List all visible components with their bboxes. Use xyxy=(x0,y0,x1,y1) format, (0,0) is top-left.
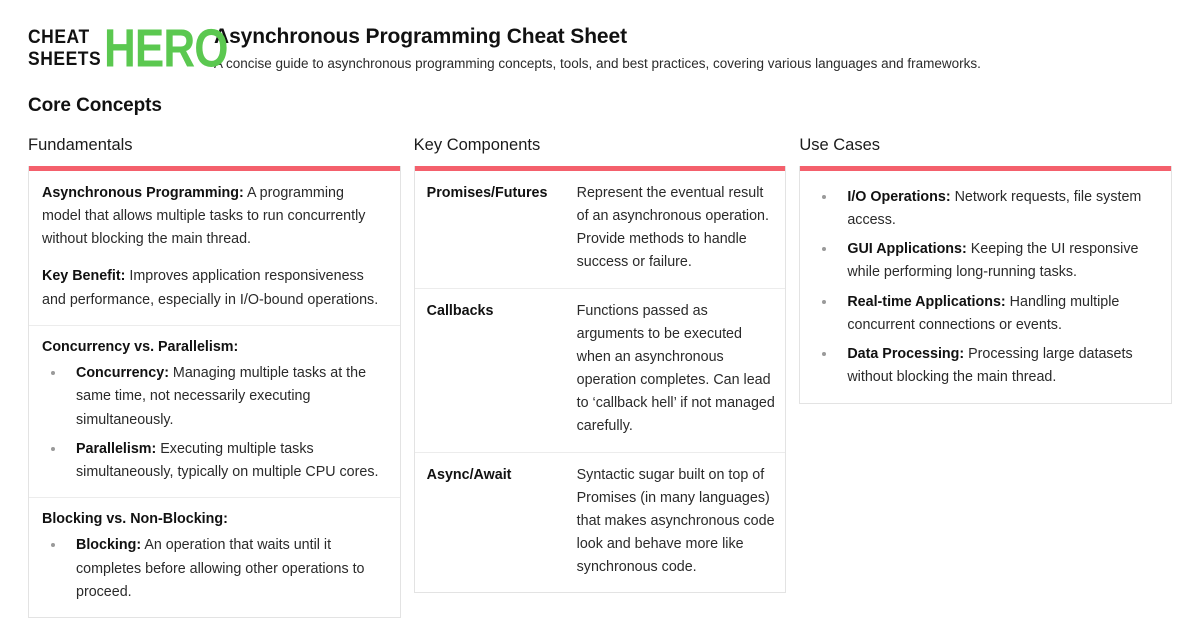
list-item-lead: I/O Operations: xyxy=(847,189,950,205)
list-item: Data Processing: Processing large datase… xyxy=(813,343,1158,389)
card-use-cases: I/O Operations: Network requests, file s… xyxy=(799,166,1172,404)
list-item: Blocking: An operation that waits until … xyxy=(42,534,387,603)
table-cell-term: Promises/Futures xyxy=(415,171,567,288)
brand-line-2: SHEETS xyxy=(28,50,101,69)
column-key-components: Key Components Promises/Futures Represen… xyxy=(414,136,787,593)
brand-logo[interactable]: CHEAT SHEETS HERO xyxy=(28,26,196,74)
block-heading: Concurrency vs. Parallelism: xyxy=(42,337,387,358)
page-header: CHEAT SHEETS HERO Asynchronous Programmi… xyxy=(28,0,1172,74)
brand-logo-text: CHEAT SHEETS xyxy=(28,28,108,69)
bullet-list: Blocking: An operation that waits until … xyxy=(42,534,387,603)
brand-accent-word: HERO xyxy=(104,21,228,75)
table-cell-description: Syntactic sugar built on top of Promises… xyxy=(567,452,786,592)
card-key-components: Promises/Futures Represent the eventual … xyxy=(414,166,787,593)
list-item-lead: Real-time Applications: xyxy=(847,294,1005,310)
paragraph: Key Benefit: Improves application respon… xyxy=(42,265,387,311)
list-item: Real-time Applications: Handling multipl… xyxy=(813,291,1158,337)
table-row: Callbacks Functions passed as arguments … xyxy=(415,288,786,452)
cheatsheet-page: CHEAT SHEETS HERO Asynchronous Programmi… xyxy=(0,0,1200,630)
block-definitions: Asynchronous Programming: A programming … xyxy=(29,171,400,326)
bullet-list: Concurrency: Managing multiple tasks at … xyxy=(42,362,387,484)
list-item-lead: Data Processing: xyxy=(847,346,964,362)
table-row: Async/Await Syntactic sugar built on top… xyxy=(415,452,786,592)
list-item-lead: GUI Applications: xyxy=(847,241,966,257)
table-cell-term: Async/Await xyxy=(415,452,567,592)
table-cell-description: Functions passed as arguments to be exec… xyxy=(567,288,786,452)
block-heading: Blocking vs. Non-Blocking: xyxy=(42,509,387,530)
header-text-group: Asynchronous Programming Cheat Sheet A c… xyxy=(214,22,981,73)
block-concurrency-parallelism: Concurrency vs. Parallelism: Concurrency… xyxy=(29,326,400,498)
list-item: GUI Applications: Keeping the UI respons… xyxy=(813,238,1158,284)
table-cell-description: Represent the eventual result of an asyn… xyxy=(567,171,786,288)
column-title-key-components: Key Components xyxy=(414,136,787,155)
page-title: Asynchronous Programming Cheat Sheet xyxy=(214,24,981,49)
use-cases-body: I/O Operations: Network requests, file s… xyxy=(800,171,1171,403)
paragraph-lead: Asynchronous Programming: xyxy=(42,185,244,201)
block-blocking-nonblocking: Blocking vs. Non-Blocking: Blocking: An … xyxy=(29,498,400,617)
column-use-cases: Use Cases I/O Operations: Network reques… xyxy=(799,136,1172,404)
bullet-list: I/O Operations: Network requests, file s… xyxy=(813,186,1158,389)
table-row: Promises/Futures Represent the eventual … xyxy=(415,171,786,288)
list-item-lead: Concurrency: xyxy=(76,365,169,381)
columns-container: Fundamentals Asynchronous Programming: A… xyxy=(28,136,1172,618)
list-item: I/O Operations: Network requests, file s… xyxy=(813,186,1158,232)
list-item: Parallelism: Executing multiple tasks si… xyxy=(42,438,387,484)
section-title: Core Concepts xyxy=(28,95,1172,117)
card-fundamentals: Asynchronous Programming: A programming … xyxy=(28,166,401,618)
paragraph-lead: Key Benefit: xyxy=(42,268,125,284)
key-components-table: Promises/Futures Represent the eventual … xyxy=(415,171,786,592)
brand-line-1: CHEAT xyxy=(28,28,101,47)
list-item-lead: Parallelism: xyxy=(76,441,156,457)
list-item-lead: Blocking: xyxy=(76,537,141,553)
column-title-use-cases: Use Cases xyxy=(799,136,1172,155)
list-item: Concurrency: Managing multiple tasks at … xyxy=(42,362,387,431)
table-cell-term: Callbacks xyxy=(415,288,567,452)
column-fundamentals: Fundamentals Asynchronous Programming: A… xyxy=(28,136,401,618)
page-subtitle: A concise guide to asynchronous programm… xyxy=(214,55,981,73)
paragraph: Asynchronous Programming: A programming … xyxy=(42,182,387,251)
column-title-fundamentals: Fundamentals xyxy=(28,136,401,155)
